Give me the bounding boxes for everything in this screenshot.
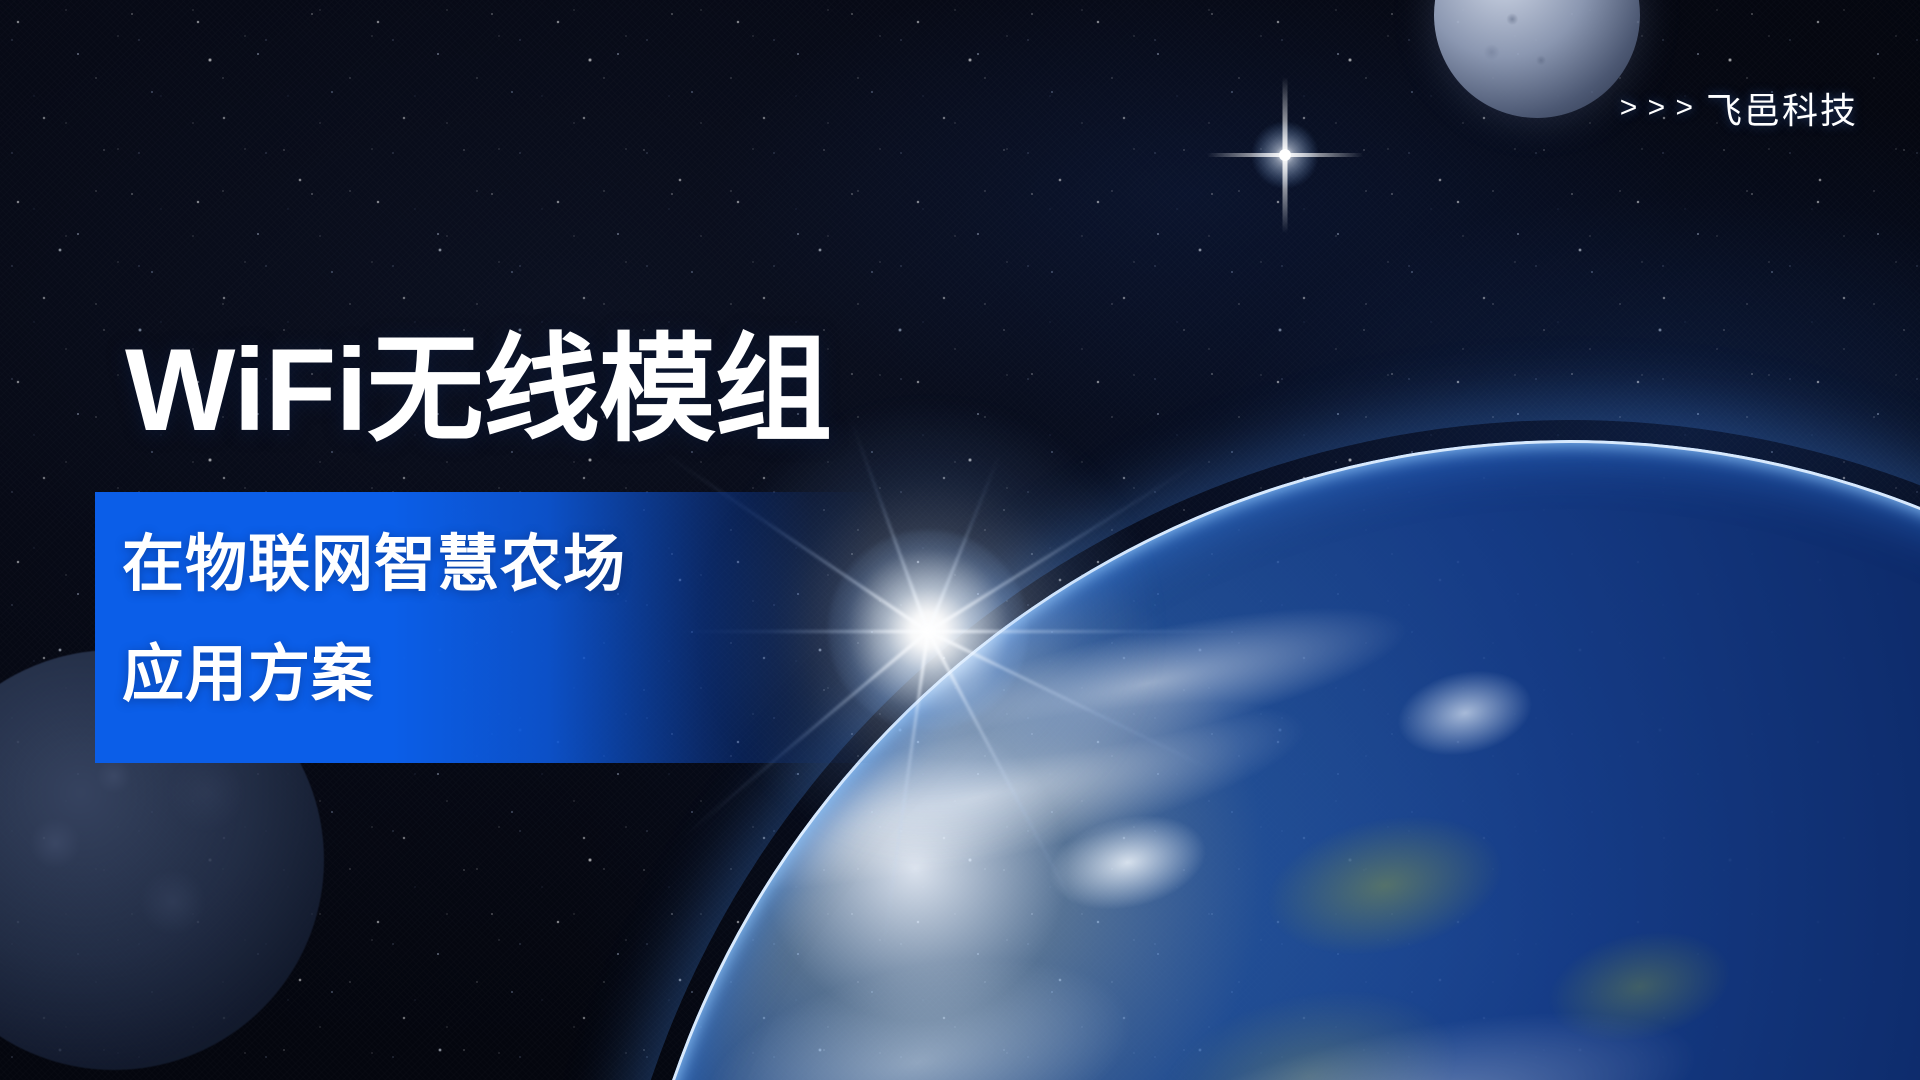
subtitle-panel: 在物联网智慧农场 应用方案 [95, 492, 875, 763]
page-title: WiFi无线模组 [125, 330, 831, 449]
subtitle-line-1: 在物联网智慧农场 [122, 534, 626, 596]
sun-flare-rays [928, 630, 930, 632]
subtitle-line-2: 应用方案 [122, 644, 374, 706]
brand-logo: > > > 飞邑科技 [1620, 82, 1858, 134]
brand-name-label: 飞邑科技 [1706, 82, 1858, 134]
star-icon [1205, 75, 1365, 235]
chevron-right-icon: > > > [1620, 91, 1694, 125]
poster-canvas: > > > 飞邑科技 WiFi无线模组 在物联网智慧农场 应用方案 [0, 0, 1920, 1080]
